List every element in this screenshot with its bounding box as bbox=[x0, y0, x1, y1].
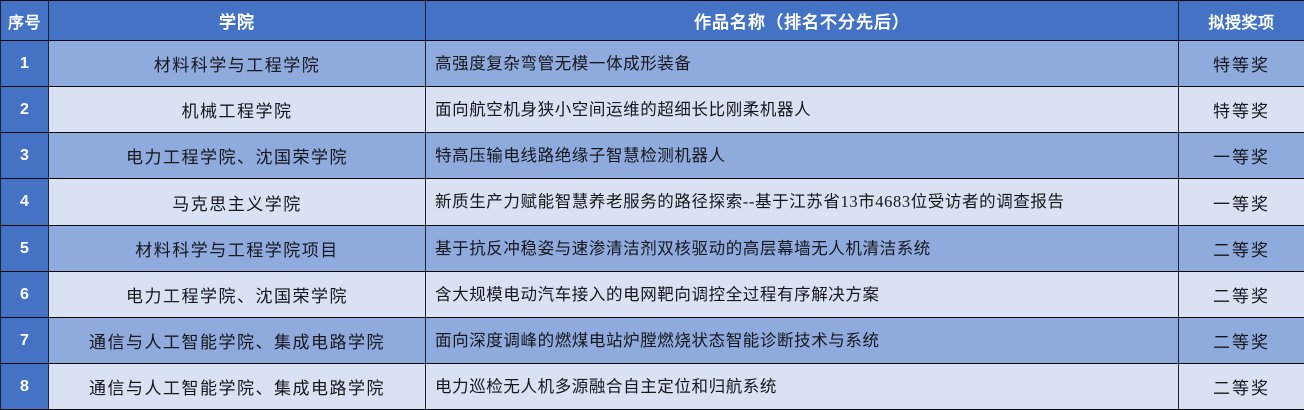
row-award-cell: 二等奖 bbox=[1179, 272, 1304, 318]
row-college-cell: 材料科学与工程学院 bbox=[49, 41, 426, 87]
row-award-cell: 特等奖 bbox=[1179, 41, 1304, 87]
row-index-cell: 7 bbox=[1, 318, 49, 364]
table-row: 4 马克思主义学院 新质生产力赋能智慧养老服务的路径探索--基于江苏省13市46… bbox=[1, 179, 1304, 226]
row-work-cell: 含大规模电动汽车接入的电网靶向调控全过程有序解决方案 bbox=[426, 272, 1179, 318]
row-college-cell: 马克思主义学院 bbox=[49, 179, 426, 226]
row-index-cell: 6 bbox=[1, 272, 49, 318]
row-college-cell: 机械工程学院 bbox=[49, 87, 426, 133]
row-work-cell: 特高压输电线路绝缘子智慧检测机器人 bbox=[426, 133, 1179, 179]
row-award-cell: 二等奖 bbox=[1179, 318, 1304, 364]
row-award-cell: 一等奖 bbox=[1179, 133, 1304, 179]
row-work-cell: 高强度复杂弯管无模一体成形装备 bbox=[426, 41, 1179, 87]
column-header-award: 拟授奖项 bbox=[1179, 1, 1304, 41]
row-index-cell: 4 bbox=[1, 179, 49, 226]
row-college-cell: 通信与人工智能学院、集成电路学院 bbox=[49, 364, 426, 410]
table-row: 7 通信与人工智能学院、集成电路学院 面向深度调峰的燃煤电站炉膛燃烧状态智能诊断… bbox=[1, 318, 1304, 364]
table-row: 1 材料科学与工程学院 高强度复杂弯管无模一体成形装备 特等奖 bbox=[1, 41, 1304, 87]
row-index-cell: 5 bbox=[1, 226, 49, 272]
row-award-cell: 二等奖 bbox=[1179, 364, 1304, 410]
row-college-cell: 通信与人工智能学院、集成电路学院 bbox=[49, 318, 426, 364]
table-row: 5 材料科学与工程学院项目 基于抗反冲稳姿与速渗清洁剂双核驱动的高层幕墙无人机清… bbox=[1, 226, 1304, 272]
table-row: 6 电力工程学院、沈国荣学院 含大规模电动汽车接入的电网靶向调控全过程有序解决方… bbox=[1, 272, 1304, 318]
row-college-cell: 电力工程学院、沈国荣学院 bbox=[49, 133, 426, 179]
row-award-cell: 一等奖 bbox=[1179, 179, 1304, 226]
row-college-cell: 材料科学与工程学院项目 bbox=[49, 226, 426, 272]
table-row: 3 电力工程学院、沈国荣学院 特高压输电线路绝缘子智慧检测机器人 一等奖 bbox=[1, 133, 1304, 179]
row-work-cell: 面向深度调峰的燃煤电站炉膛燃烧状态智能诊断技术与系统 bbox=[426, 318, 1179, 364]
row-work-cell: 新质生产力赋能智慧养老服务的路径探索--基于江苏省13市4683位受访者的调查报… bbox=[426, 179, 1179, 226]
table-row: 2 机械工程学院 面向航空机身狭小空间运维的超细长比刚柔机器人 特等奖 bbox=[1, 87, 1304, 133]
table-header: 序号 学院 作品名称（排名不分先后） 拟授奖项 bbox=[1, 1, 1304, 41]
row-work-cell: 基于抗反冲稳姿与速渗清洁剂双核驱动的高层幕墙无人机清洁系统 bbox=[426, 226, 1179, 272]
table-row: 8 通信与人工智能学院、集成电路学院 电力巡检无人机多源融合自主定位和归航系统 … bbox=[1, 364, 1304, 410]
row-index-cell: 3 bbox=[1, 133, 49, 179]
column-header-index: 序号 bbox=[1, 1, 49, 41]
row-award-cell: 特等奖 bbox=[1179, 87, 1304, 133]
row-index-cell: 1 bbox=[1, 41, 49, 87]
row-award-cell: 二等奖 bbox=[1179, 226, 1304, 272]
award-list-table: 序号 学院 作品名称（排名不分先后） 拟授奖项 1 材料科学与工程学院 高强度复… bbox=[0, 0, 1304, 410]
header-row: 序号 学院 作品名称（排名不分先后） 拟授奖项 bbox=[1, 1, 1304, 41]
column-header-work-name: 作品名称（排名不分先后） bbox=[426, 1, 1179, 41]
row-index-cell: 2 bbox=[1, 87, 49, 133]
table-body: 1 材料科学与工程学院 高强度复杂弯管无模一体成形装备 特等奖 2 机械工程学院… bbox=[1, 41, 1304, 410]
row-college-cell: 电力工程学院、沈国荣学院 bbox=[49, 272, 426, 318]
row-work-cell: 电力巡检无人机多源融合自主定位和归航系统 bbox=[426, 364, 1179, 410]
row-index-cell: 8 bbox=[1, 364, 49, 410]
column-header-college: 学院 bbox=[49, 1, 426, 41]
row-work-cell: 面向航空机身狭小空间运维的超细长比刚柔机器人 bbox=[426, 87, 1179, 133]
